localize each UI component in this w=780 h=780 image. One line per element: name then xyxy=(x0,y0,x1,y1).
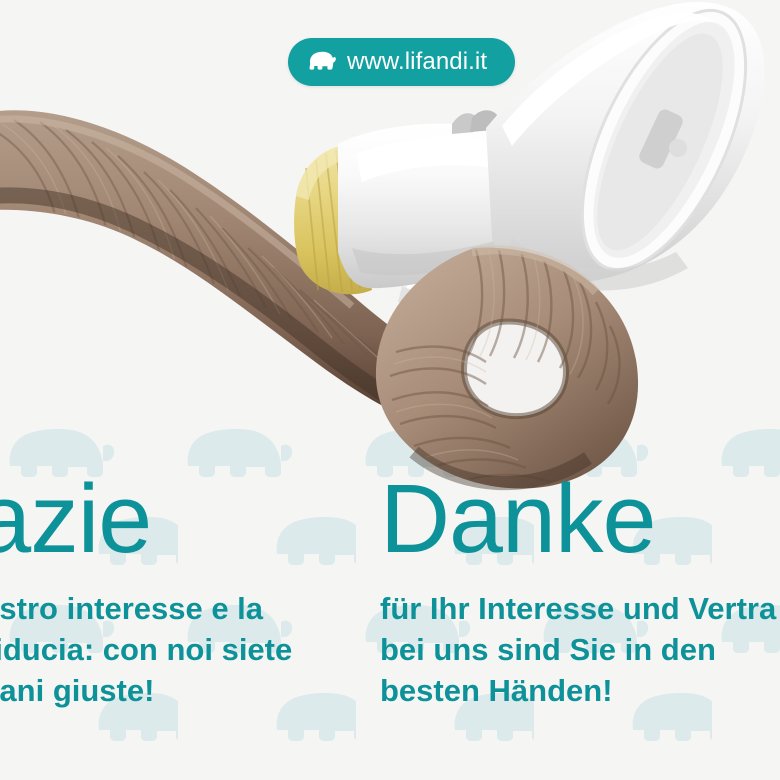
italian-line-3: e mani giuste! xyxy=(0,671,386,712)
german-line-3: besten Händen! xyxy=(380,671,780,712)
italian-headline: razie xyxy=(0,470,386,567)
german-text-column: Danke für Ihr Interesse und Vertra bei u… xyxy=(380,470,780,712)
italian-line-2: ra fiducia: con noi siete xyxy=(0,630,386,671)
german-line-2: bei uns sind Sie in den xyxy=(380,630,780,671)
italian-body-copy: l vostro interesse e la ra fiducia: con … xyxy=(0,589,386,712)
german-line-1: für Ihr Interesse und Vertra xyxy=(380,589,780,630)
website-url-text: www.lifandi.it xyxy=(347,50,487,74)
elephant-trunk xyxy=(0,110,440,424)
website-url-badge[interactable]: www.lifandi.it xyxy=(288,38,515,86)
german-body-copy: für Ihr Interesse und Vertra bei uns sin… xyxy=(380,589,780,712)
italian-line-1: l vostro interesse e la xyxy=(0,589,386,630)
poster-canvas: www.lifandi.it razie l vostro interesse … xyxy=(0,0,780,780)
megaphone-bell xyxy=(486,0,779,293)
german-headline: Danke xyxy=(380,470,780,567)
megaphone-handle xyxy=(407,278,478,372)
italian-text-column: razie l vostro interesse e la ra fiducia… xyxy=(0,470,386,712)
megaphone-body xyxy=(294,110,540,318)
elephant-trunk-coil xyxy=(376,246,638,489)
elephant-logo-icon xyxy=(308,50,336,74)
